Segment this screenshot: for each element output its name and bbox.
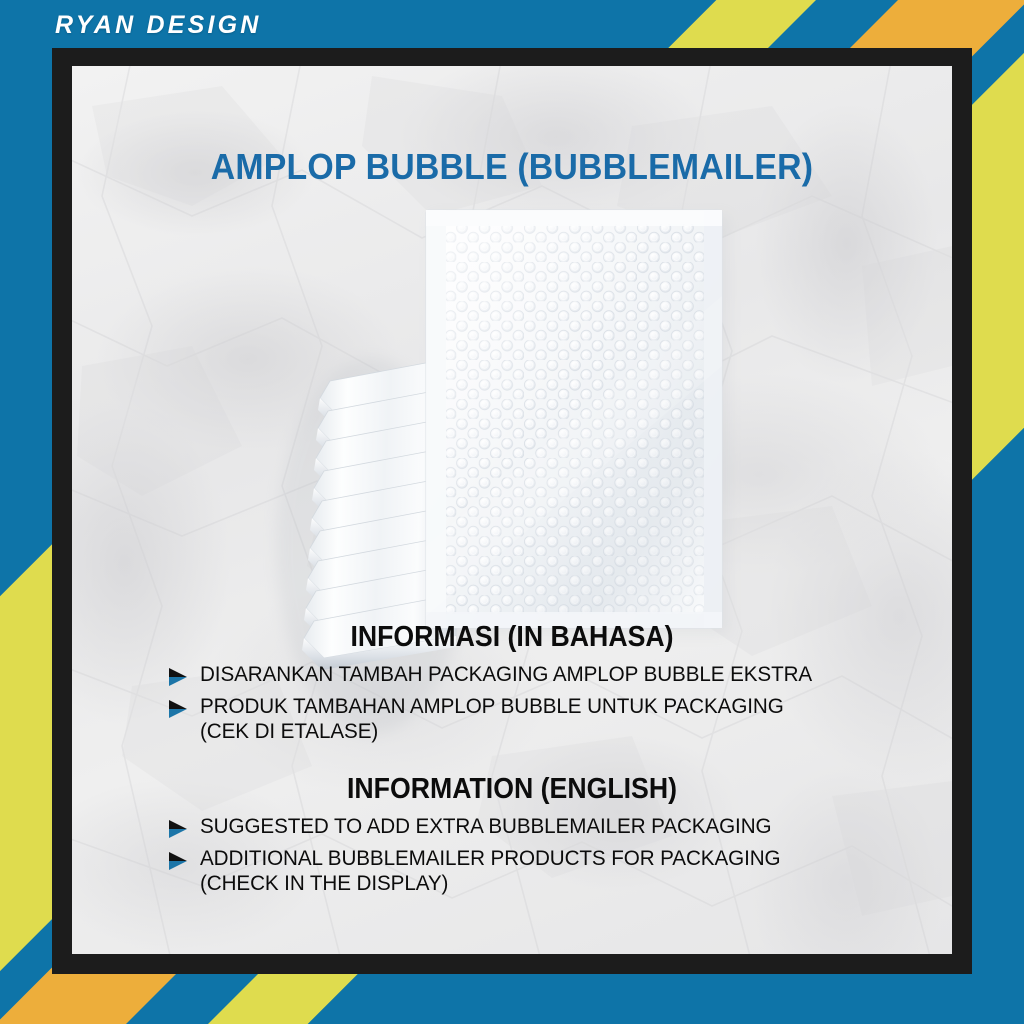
triangle-right-icon bbox=[168, 819, 188, 839]
section-english: INFORMATION (ENGLISH) SUGGESTED TO ADD E… bbox=[72, 773, 952, 895]
bullet-text-line2: (CHECK IN THE DISPLAY) bbox=[200, 871, 448, 895]
section-heading-bahasa: INFORMASI (IN BAHASA) bbox=[107, 621, 917, 654]
information-block: INFORMASI (IN BAHASA) DISARANKAN TAMBAH … bbox=[72, 621, 952, 902]
bubble-mailer-envelope bbox=[426, 210, 728, 634]
bullet-text-wrapper: ADDITIONAL BUBBLEMAILER PRODUCTS FOR PAC… bbox=[200, 846, 781, 895]
list-item: SUGGESTED TO ADD EXTRA BUBBLEMAILER PACK… bbox=[168, 814, 952, 839]
list-item: ADDITIONAL BUBBLEMAILER PRODUCTS FOR PAC… bbox=[168, 846, 952, 895]
section-bahasa: INFORMASI (IN BAHASA) DISARANKAN TAMBAH … bbox=[72, 621, 952, 743]
bullet-text-line1: ADDITIONAL BUBBLEMAILER PRODUCTS FOR PAC… bbox=[200, 846, 781, 870]
section-heading-english: INFORMATION (ENGLISH) bbox=[107, 773, 917, 806]
poster-frame: AMPLOP BUBBLE (BUBBLEMAILER) bbox=[52, 48, 972, 974]
poster-canvas: RYAN DESIGN bbox=[0, 0, 1024, 1024]
bullet-list-bahasa: DISARANKAN TAMBAH PACKAGING AMPLOP BUBBL… bbox=[72, 662, 952, 743]
brand-logo-text: RYAN DESIGN bbox=[55, 11, 262, 40]
page-title: AMPLOP BUBBLE (BUBBLEMAILER) bbox=[98, 146, 925, 188]
bullet-text-line2: (CEK DI ETALASE) bbox=[200, 719, 378, 743]
bullet-text: SUGGESTED TO ADD EXTRA BUBBLEMAILER PACK… bbox=[200, 814, 771, 839]
triangle-right-icon bbox=[168, 699, 188, 719]
section-spacer bbox=[72, 750, 952, 773]
bullet-text-line1: PRODUK TAMBAHAN AMPLOP BUBBLE UNTUK PACK… bbox=[200, 694, 784, 718]
paper-card: AMPLOP BUBBLE (BUBBLEMAILER) bbox=[72, 66, 952, 954]
list-item: PRODUK TAMBAHAN AMPLOP BUBBLE UNTUK PACK… bbox=[168, 694, 952, 743]
bullet-text: DISARANKAN TAMBAH PACKAGING AMPLOP BUBBL… bbox=[200, 662, 812, 687]
list-item: DISARANKAN TAMBAH PACKAGING AMPLOP BUBBL… bbox=[168, 662, 952, 687]
triangle-right-icon bbox=[168, 667, 188, 687]
triangle-right-icon bbox=[168, 851, 188, 871]
bullet-text-wrapper: PRODUK TAMBAHAN AMPLOP BUBBLE UNTUK PACK… bbox=[200, 694, 784, 743]
bullet-list-english: SUGGESTED TO ADD EXTRA BUBBLEMAILER PACK… bbox=[72, 814, 952, 895]
